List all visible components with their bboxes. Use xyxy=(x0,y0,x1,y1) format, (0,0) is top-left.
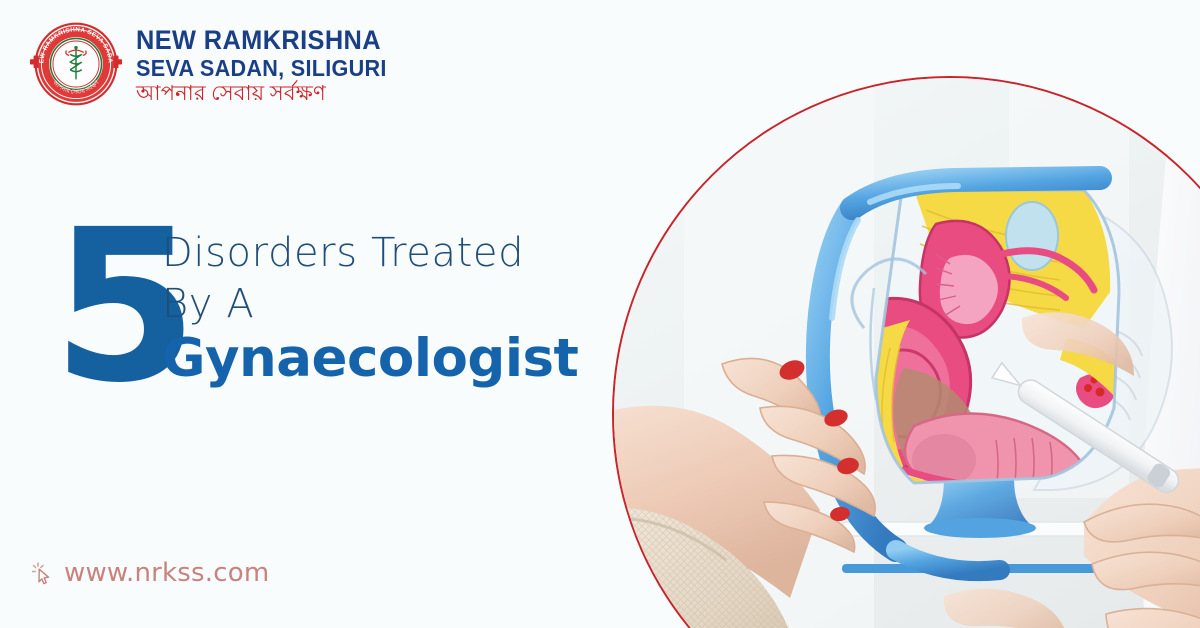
headline-line-1: Disorders Treated xyxy=(162,228,682,279)
headline-block: 5 Disorders Treated By A Gynaecologist xyxy=(52,228,672,398)
hero-photo-circle xyxy=(612,76,1200,628)
brand-logo[interactable]: NEW RAMKRISHNA SEVA SADAN আপনার সেবায় স… xyxy=(28,16,403,112)
promotional-banner: NEW RAMKRISHNA SEVA SADAN আপনার সেবায় স… xyxy=(0,0,1200,628)
hero-photo xyxy=(614,78,1200,628)
brand-wordmark: NEW RAMKRISHNA SEVA SADAN, SILIGURI আপনা… xyxy=(136,23,403,104)
headline-line-3: Gynaecologist xyxy=(162,331,682,387)
headline-line-2: By A xyxy=(162,279,682,330)
brand-name-line1: NEW RAMKRISHNA xyxy=(136,27,387,55)
click-cursor-icon xyxy=(32,561,54,585)
website-url-text: www.nrkss.com xyxy=(64,558,269,588)
website-link[interactable]: www.nrkss.com xyxy=(32,558,269,588)
brand-name-line2: SEVA SADAN, SILIGURI xyxy=(136,57,387,80)
headline-lines: Disorders Treated By A Gynaecologist xyxy=(162,228,682,387)
ramkrishna-seva-sadan-emblem: NEW RAMKRISHNA SEVA SADAN আপনার সেবায় স… xyxy=(28,16,124,112)
brand-tagline-bengali: আপনার সেবায় সর্বক্ষণ xyxy=(136,83,403,104)
